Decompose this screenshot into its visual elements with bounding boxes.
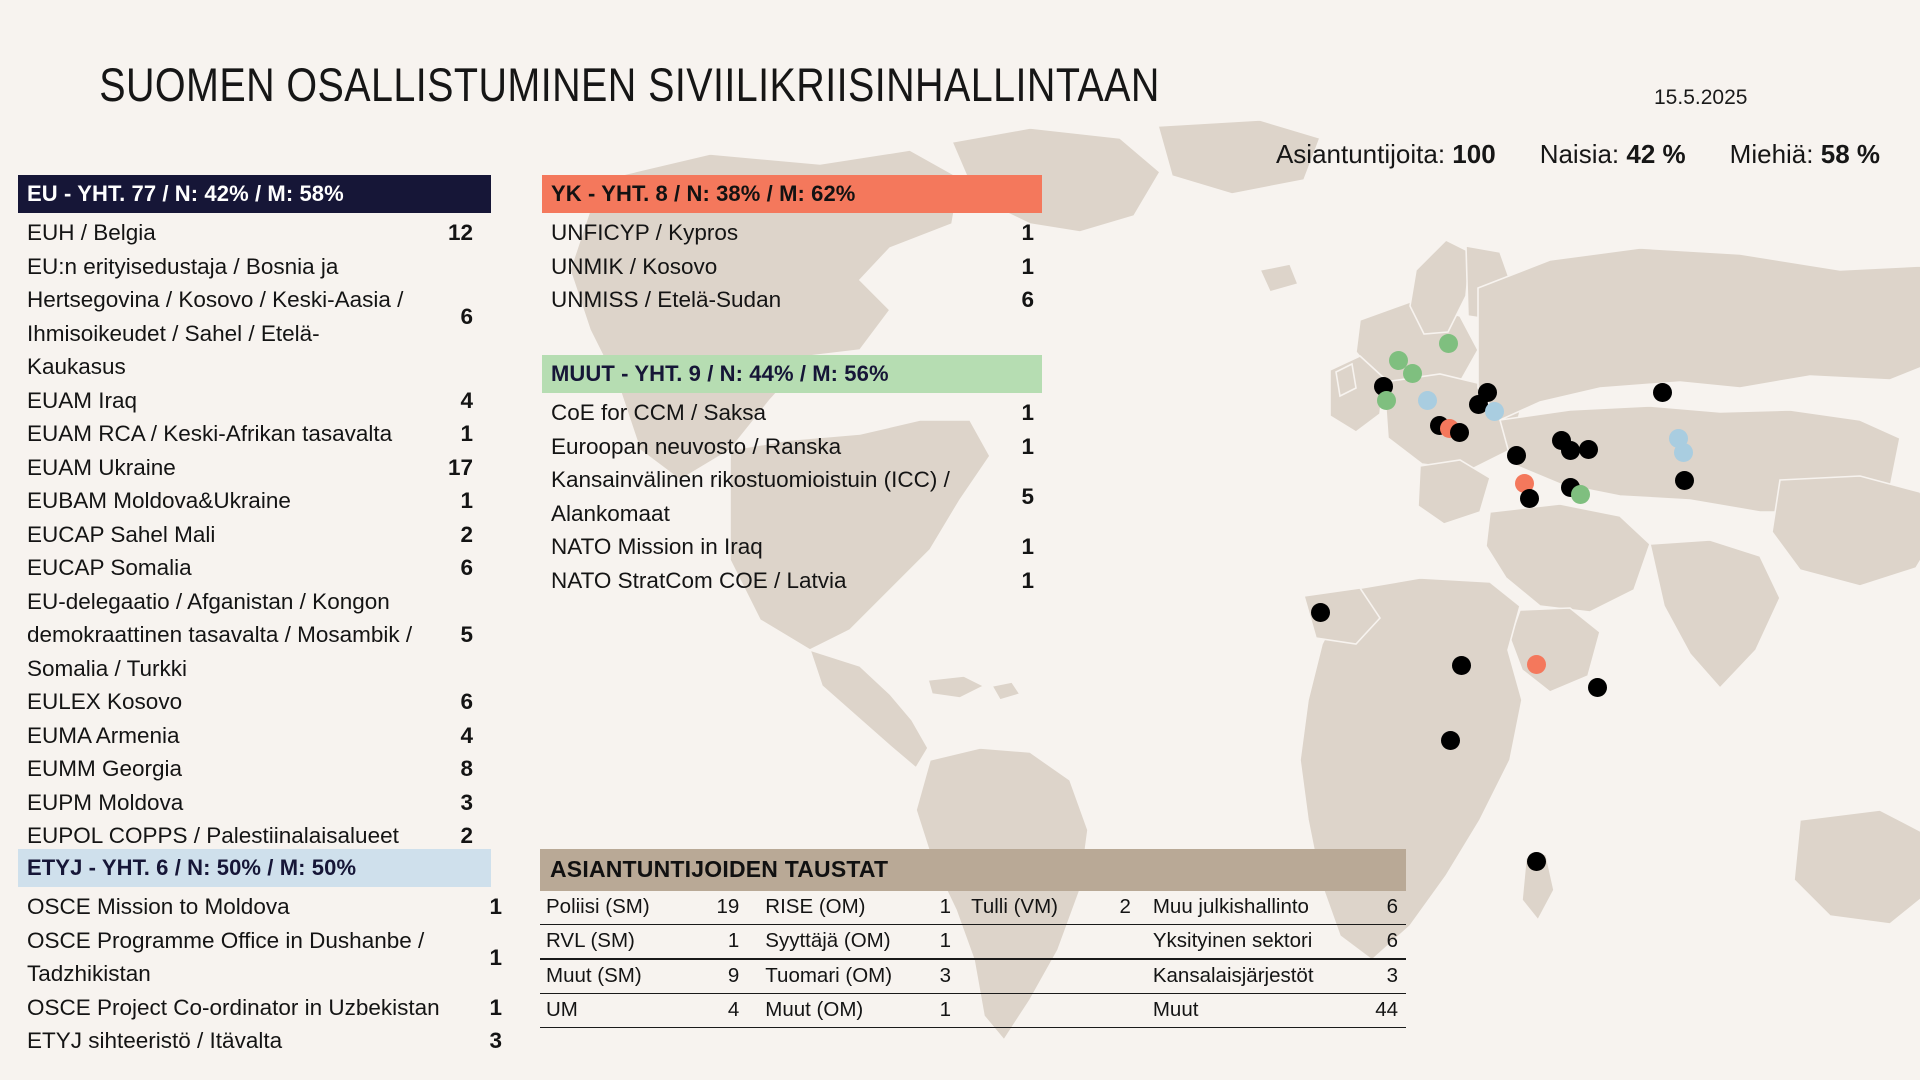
marker-mali [1311, 603, 1330, 622]
stat-men: Miehiä: 58 % [1730, 139, 1880, 170]
table-cell: Tulli (VM) [971, 891, 1079, 925]
list-item-label: EUPM Moldova [18, 786, 427, 820]
list-item-value: 6 [427, 551, 481, 585]
list-item-label: EU:n erityisedustaja / Bosnia ja Hertseg… [18, 250, 427, 384]
marker-iraq-green [1571, 485, 1590, 504]
section-etyj: ETYJ - YHT. 6 / N: 50% / M: 50% OSCE Mis… [18, 849, 510, 1058]
list-item-label: EULEX Kosovo [18, 685, 427, 719]
list-item-label: OSCE Project Co-ordinator in Uzbekistan [18, 991, 456, 1025]
list-item: UNFICYP / Kypros1 [542, 216, 1042, 250]
stat-men-label: Miehiä: [1730, 139, 1814, 169]
page-title: SUOMEN OSALLISTUMINEN SIVIILIKRIISINHALL… [99, 57, 1141, 112]
table-cell [1079, 994, 1153, 1028]
list-item: EUPOL COPPS / Palestiinalaisalueet2 [18, 819, 510, 853]
marker-kazakhstan [1653, 383, 1672, 402]
list-item-value: 17 [427, 451, 481, 485]
list-item-value: 1 [994, 430, 1042, 464]
stat-experts-label: Asiantuntijoita: [1276, 139, 1445, 169]
list-item-label: ETYJ sihteeristö / Itävalta [18, 1024, 456, 1058]
list-item-value: 1 [456, 941, 510, 975]
list-item-value: 1 [994, 396, 1042, 430]
marker-armenia [1561, 441, 1580, 460]
table-cell: 1 [690, 925, 765, 960]
list-item-value: 1 [456, 991, 510, 1025]
table-cell: Muut (SM) [540, 959, 690, 994]
list-item-label: UNMISS / Etelä-Sudan [542, 283, 994, 317]
list-item-label: EUAM Iraq [18, 384, 427, 418]
infographic-canvas: SUOMEN OSALLISTUMINEN SIVIILIKRIISINHALL… [0, 0, 1920, 1080]
list-item-label: EUH / Belgia [18, 216, 427, 250]
list-item-value: 1 [994, 250, 1042, 284]
list-item-label: UNMIK / Kosovo [542, 250, 994, 284]
list-item: UNMIK / Kosovo1 [542, 250, 1042, 284]
list-item-label: EUAM Ukraine [18, 451, 427, 485]
list-item-label: OSCE Mission to Moldova [18, 890, 456, 924]
list-item-value: 4 [427, 384, 481, 418]
marker-mozambique [1527, 852, 1546, 871]
list-item-value: 2 [427, 518, 481, 552]
list-item: NATO Mission in Iraq1 [542, 530, 1042, 564]
table-cell: Muut [1153, 994, 1348, 1028]
section-muut: MUUT - YHT. 9 / N: 44% / M: 56% CoE for … [542, 355, 1042, 597]
list-item-value: 8 [427, 752, 481, 786]
list-item: EUAM Iraq4 [18, 384, 510, 418]
backgrounds-table-body: Poliisi (SM)19RISE (OM)1Tulli (VM)2Muu j… [540, 891, 1406, 1028]
marker-moldova [1485, 402, 1504, 421]
list-item-label: EUCAP Somalia [18, 551, 427, 585]
list-item-value: 6 [994, 283, 1042, 317]
table-cell: 9 [690, 959, 765, 994]
stat-experts: Asiantuntijoita: 100 [1276, 139, 1496, 170]
section-eu: EU - YHT. 77 / N: 42% / M: 58% EUH / Bel… [18, 175, 510, 853]
list-item: EUCAP Sahel Mali2 [18, 518, 510, 552]
list-item-value: 1 [427, 417, 481, 451]
table-cell [971, 959, 1079, 994]
backgrounds-table: ASIANTUNTIJOIDEN TAUSTAT Poliisi (SM)19R… [540, 849, 1406, 1028]
list-item-label: CoE for CCM / Saksa [542, 396, 994, 430]
section-etyj-rows: OSCE Mission to Moldova1OSCE Programme O… [18, 887, 510, 1058]
table-cell [1079, 925, 1153, 960]
list-item-value: 1 [994, 216, 1042, 250]
table-cell: 6 [1348, 925, 1406, 960]
table-cell: 3 [1348, 959, 1406, 994]
table-row: UM4Muut (OM)1Muut44 [540, 994, 1406, 1028]
list-item-value: 5 [994, 480, 1042, 514]
stat-women-value: 42 % [1626, 139, 1685, 169]
list-item: CoE for CCM / Saksa1 [542, 396, 1042, 430]
section-muut-heading: MUUT - YHT. 9 / N: 44% / M: 56% [542, 355, 1042, 393]
section-muut-rows: CoE for CCM / Saksa1Euroopan neuvosto / … [542, 393, 1042, 597]
marker-austria [1418, 391, 1437, 410]
list-item-label: EU-delegaatio / Afganistan / Kongon demo… [18, 585, 427, 686]
table-cell: Tuomari (OM) [765, 959, 908, 994]
table-cell: 3 [909, 959, 971, 994]
list-item: EUCAP Somalia6 [18, 551, 510, 585]
list-item-value: 3 [427, 786, 481, 820]
table-row: Muut (SM)9Tuomari (OM)3Kansalaisjärjestö… [540, 959, 1406, 994]
marker-car [1452, 656, 1471, 675]
marker-turkey [1507, 446, 1526, 465]
table-row: Poliisi (SM)19RISE (OM)1Tulli (VM)2Muu j… [540, 891, 1406, 925]
list-item: EUPM Moldova3 [18, 786, 510, 820]
table-cell: 44 [1348, 994, 1406, 1028]
list-item: ETYJ sihteeristö / Itävalta3 [18, 1024, 510, 1058]
table-cell: RVL (SM) [540, 925, 690, 960]
section-etyj-heading: ETYJ - YHT. 6 / N: 50% / M: 50% [18, 849, 491, 887]
list-item-value: 2 [427, 819, 481, 853]
list-item-label: Euroopan neuvosto / Ranska [542, 430, 994, 464]
table-cell: UM [540, 994, 690, 1028]
list-item-value: 1 [427, 484, 481, 518]
list-item: EUAM RCA / Keski-Afrikan tasavalta1 [18, 417, 510, 451]
marker-kosovo-black [1450, 423, 1469, 442]
marker-palestine [1520, 489, 1539, 508]
list-item: Kansainvälinen rikostuomioistuin (ICC) /… [542, 463, 1042, 530]
list-item: NATO StratCom COE / Latvia1 [542, 564, 1042, 598]
list-item-value: 4 [427, 719, 481, 753]
list-item-value: 3 [456, 1024, 510, 1058]
table-cell: 1 [909, 891, 971, 925]
table-cell: RISE (OM) [765, 891, 908, 925]
stat-women-label: Naisia: [1540, 139, 1619, 169]
list-item: EU-delegaatio / Afganistan / Kongon demo… [18, 585, 510, 686]
marker-germany [1377, 391, 1396, 410]
list-item-value: 1 [994, 564, 1042, 598]
marker-drc [1441, 731, 1460, 750]
stat-experts-value: 100 [1452, 139, 1495, 169]
list-item: OSCE Project Co-ordinator in Uzbekistan1 [18, 991, 510, 1025]
list-item: EUMA Armenia4 [18, 719, 510, 753]
list-item-value: 6 [427, 685, 481, 719]
list-item: EUH / Belgia12 [18, 216, 510, 250]
backgrounds-table-heading: ASIANTUNTIJOIDEN TAUSTAT [540, 849, 1406, 891]
table-cell [971, 994, 1079, 1028]
table-cell: 1 [909, 925, 971, 960]
table-cell: 1 [909, 994, 971, 1028]
section-eu-rows: EUH / Belgia12EU:n erityisedustaja / Bos… [18, 213, 510, 853]
report-date: 15.5.2025 [1654, 86, 1747, 110]
section-yk-rows: UNFICYP / Kypros1UNMIK / Kosovo1UNMISS /… [542, 213, 1042, 317]
table-cell: 4 [690, 994, 765, 1028]
list-item-value: 12 [427, 216, 481, 250]
list-item-label: NATO Mission in Iraq [542, 530, 994, 564]
table-cell: Poliisi (SM) [540, 891, 690, 925]
marker-netherlands [1403, 364, 1422, 383]
list-item-label: EUPOL COPPS / Palestiinalaisalueet [18, 819, 427, 853]
list-item-value: 5 [427, 618, 481, 652]
list-item: OSCE Mission to Moldova1 [18, 890, 510, 924]
table-cell: 19 [690, 891, 765, 925]
table-cell: 6 [1348, 891, 1406, 925]
table-cell: 2 [1079, 891, 1153, 925]
table-cell: Muu julkishallinto [1153, 891, 1348, 925]
list-item-label: NATO StratCom COE / Latvia [542, 564, 994, 598]
list-item-label: EUCAP Sahel Mali [18, 518, 427, 552]
list-item-label: EUMA Armenia [18, 719, 427, 753]
section-eu-heading: EU - YHT. 77 / N: 42% / M: 58% [18, 175, 491, 213]
stat-men-value: 58 % [1821, 139, 1880, 169]
summary-stats: Asiantuntijoita: 100 Naisia: 42 % Miehiä… [1180, 139, 1880, 170]
table-cell: Kansalaisjärjestöt [1153, 959, 1348, 994]
stat-women: Naisia: 42 % [1540, 139, 1686, 170]
list-item: EULEX Kosovo6 [18, 685, 510, 719]
list-item-value: 1 [994, 530, 1042, 564]
list-item: EU:n erityisedustaja / Bosnia ja Hertseg… [18, 250, 510, 384]
marker-tajikistan [1674, 443, 1693, 462]
table-cell: Yksityinen sektori [1153, 925, 1348, 960]
list-item-label: EUBAM Moldova&Ukraine [18, 484, 427, 518]
list-item: UNMISS / Etelä-Sudan6 [542, 283, 1042, 317]
marker-afghanistan [1675, 471, 1694, 490]
marker-finland [1439, 334, 1458, 353]
section-yk-heading: YK - YHT. 8 / N: 38% / M: 62% [542, 175, 1042, 213]
list-item: EUMM Georgia8 [18, 752, 510, 786]
list-item: EUBAM Moldova&Ukraine1 [18, 484, 510, 518]
list-item-label: EUAM RCA / Keski-Afrikan tasavalta [18, 417, 427, 451]
table-cell: Syyttäjä (OM) [765, 925, 908, 960]
marker-azerbaijan [1579, 440, 1598, 459]
backgrounds-table-grid: Poliisi (SM)19RISE (OM)1Tulli (VM)2Muu j… [540, 891, 1406, 1028]
list-item-value: 6 [427, 300, 481, 334]
list-item-label: OSCE Programme Office in Dushanbe / Tadz… [18, 924, 456, 991]
table-row: RVL (SM)1Syyttäjä (OM)1Yksityinen sektor… [540, 925, 1406, 960]
table-cell [971, 925, 1079, 960]
marker-somalia [1588, 678, 1607, 697]
list-item: OSCE Programme Office in Dushanbe / Tadz… [18, 924, 510, 991]
table-cell: Muut (OM) [765, 994, 908, 1028]
list-item-label: EUMM Georgia [18, 752, 427, 786]
list-item: EUAM Ukraine17 [18, 451, 510, 485]
table-cell [1079, 959, 1153, 994]
list-item-label: Kansainvälinen rikostuomioistuin (ICC) /… [542, 463, 994, 530]
list-item-value: 1 [456, 890, 510, 924]
marker-south-sudan [1527, 655, 1546, 674]
list-item: Euroopan neuvosto / Ranska1 [542, 430, 1042, 464]
list-item-label: UNFICYP / Kypros [542, 216, 994, 250]
section-yk: YK - YHT. 8 / N: 38% / M: 62% UNFICYP / … [542, 175, 1042, 317]
